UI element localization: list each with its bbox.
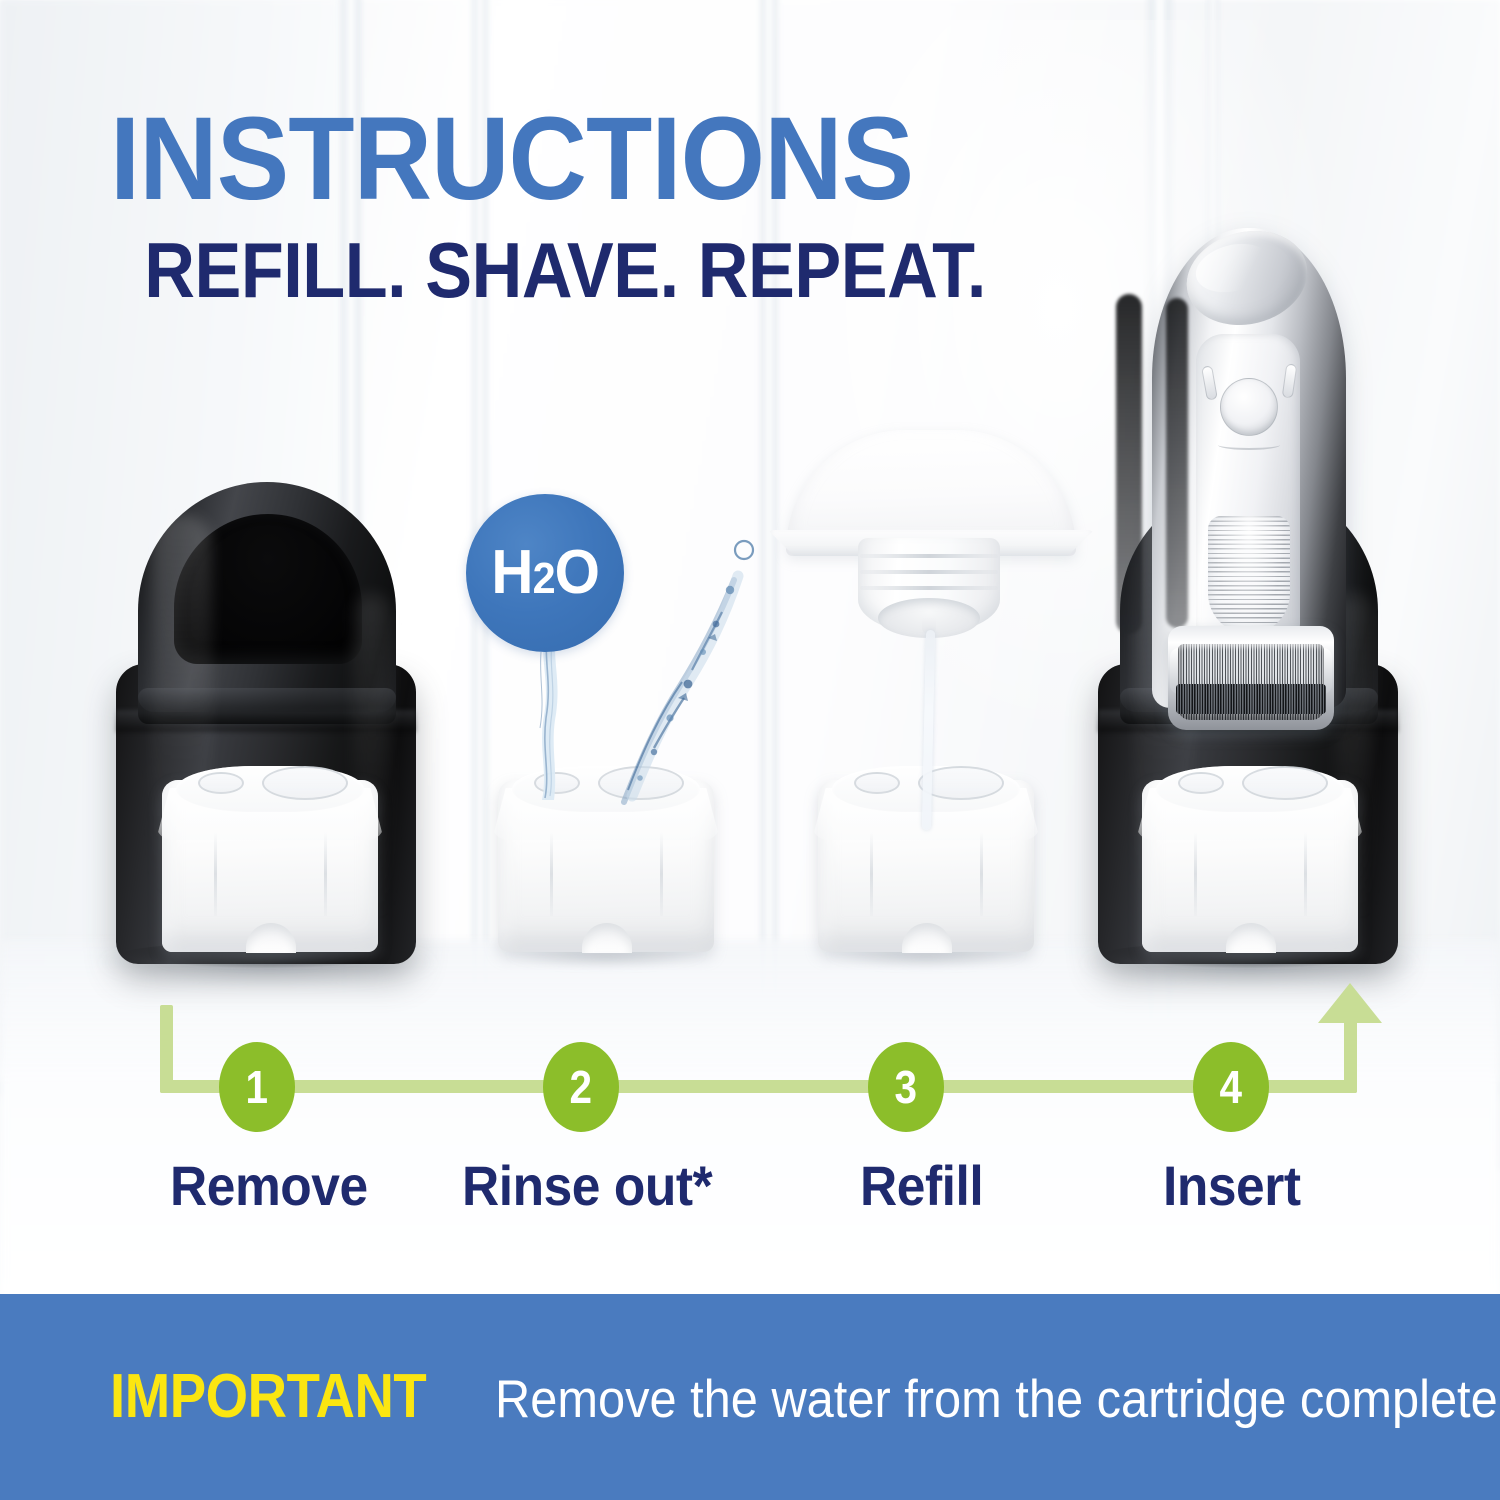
step-marker-1: 1 bbox=[219, 1042, 295, 1132]
step-label-1: Remove bbox=[170, 1158, 368, 1214]
timeline-arrow-icon bbox=[1318, 983, 1382, 1023]
step-label-4: Insert bbox=[1163, 1158, 1301, 1214]
important-banner: IMPORTANT Remove the water from the cart… bbox=[0, 1294, 1500, 1500]
step-number-4: 4 bbox=[1220, 1064, 1243, 1110]
step-marker-3: 3 bbox=[868, 1042, 944, 1132]
page-subtitle: REFILL. SHAVE. REPEAT. bbox=[110, 231, 986, 309]
banner-keyword: IMPORTANT bbox=[110, 1366, 426, 1428]
step-marker-2: 2 bbox=[543, 1042, 619, 1132]
step-number-3: 3 bbox=[895, 1064, 918, 1110]
banner-message: Remove the water from the cartridge comp… bbox=[495, 1369, 1500, 1426]
headline-block: INSTRUCTIONS REFILL. SHAVE. REPEAT. bbox=[110, 104, 1083, 309]
step-number-1: 1 bbox=[246, 1064, 269, 1110]
step-number-2: 2 bbox=[570, 1064, 593, 1110]
step-marker-4: 4 bbox=[1193, 1042, 1269, 1132]
page-title: INSTRUCTIONS bbox=[110, 104, 1005, 215]
timeline-track bbox=[160, 1080, 1357, 1093]
instructions-infographic: INSTRUCTIONS REFILL. SHAVE. REPEAT. bbox=[0, 0, 1500, 1500]
step-label-2: Rinse out* bbox=[462, 1158, 712, 1214]
step-label-3: Refill bbox=[860, 1158, 983, 1214]
